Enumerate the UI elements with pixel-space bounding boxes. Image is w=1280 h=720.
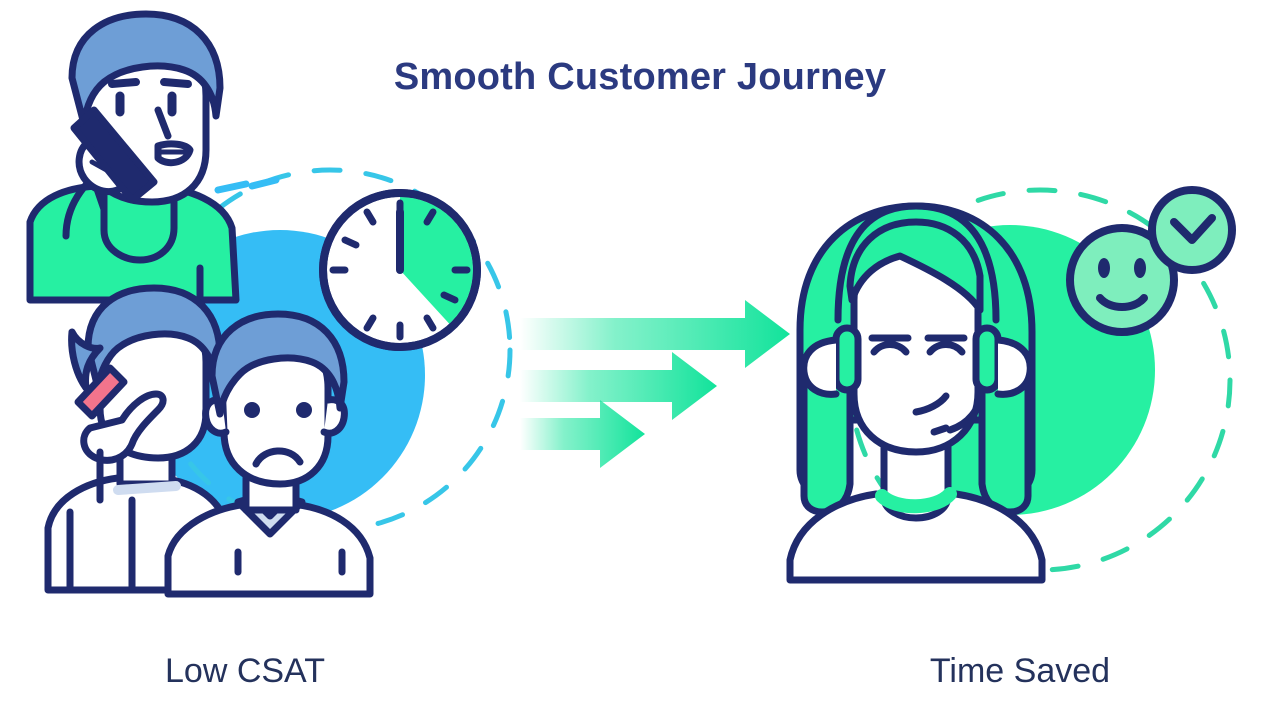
arrow-1 xyxy=(520,300,790,368)
scene-graphics xyxy=(0,0,1280,720)
illustration-canvas: Smooth Customer Journey xyxy=(0,0,1280,720)
progress-arrows xyxy=(520,300,790,468)
clock-icon xyxy=(323,193,477,347)
caption-time-saved: Time Saved xyxy=(810,652,1230,691)
headset-agent-icon xyxy=(790,206,1042,580)
arrow-3 xyxy=(520,400,645,468)
left-scene-group xyxy=(30,14,510,594)
arrow-2 xyxy=(520,352,717,420)
caption-low-csat: Low CSAT xyxy=(35,652,455,691)
check-badge-icon xyxy=(1152,190,1232,270)
right-scene-group xyxy=(790,190,1232,580)
